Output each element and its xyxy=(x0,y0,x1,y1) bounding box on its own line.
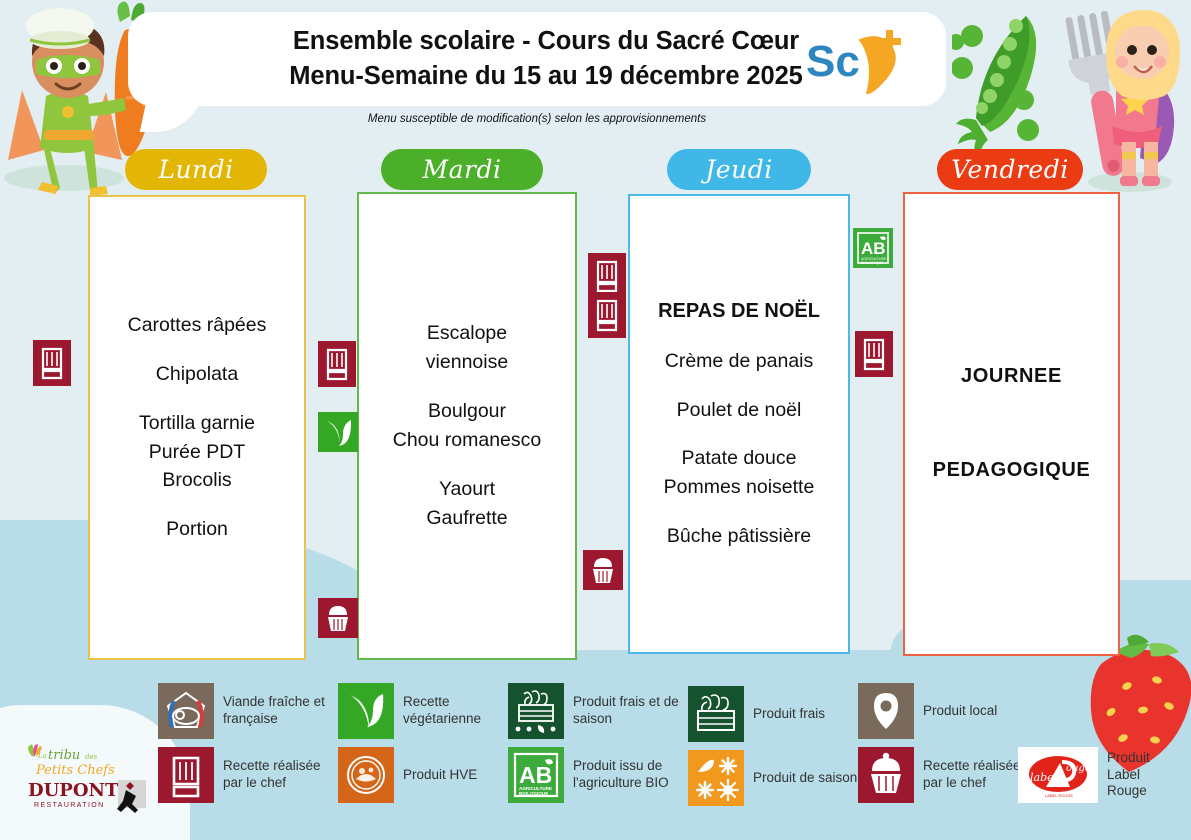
label-rouge-icon: label ouge LABEL ROUGE xyxy=(1018,747,1098,803)
menu-line: Boulgour xyxy=(359,397,575,426)
legend-item: AB AGRICULTURE BIOLOGIQUE Produit issu d… xyxy=(508,747,688,803)
menu-line: Brocolis xyxy=(90,466,304,495)
menu-line: Bûche pâtissière xyxy=(630,522,848,551)
legend-label: Produit HVE xyxy=(403,767,477,784)
day-card-lundi: Carottes râpées Chipolata Tortilla garni… xyxy=(88,195,306,660)
dupont-restauration-logo: DUPONT RESTAURATION xyxy=(26,776,150,814)
menu-group: Yaourt Gaufrette xyxy=(359,475,575,533)
menu-line: Portion xyxy=(90,515,304,544)
legend-label: Recette réalisée par le chef xyxy=(223,758,338,792)
legend-column-5: Produit local Recette réalisée par le ch… xyxy=(858,683,1028,811)
organic-ab-icon: AB AGRICULTURE BIOLOGIQUE xyxy=(853,228,893,268)
cupcake-chef-icon xyxy=(583,550,623,590)
page-title: Ensemble scolaire - Cours du Sacré Cœur xyxy=(196,24,896,59)
menu-group: Portion xyxy=(90,515,304,544)
day-badge-label: Vendredi xyxy=(951,155,1068,184)
chef-recipe-icon xyxy=(158,747,214,803)
day-card-vendredi: JOURNEE PEDAGOGIQUE xyxy=(903,192,1120,656)
svg-text:BIOLOGIQUE: BIOLOGIQUE xyxy=(519,791,548,796)
svg-text:des: des xyxy=(85,753,98,761)
vegetarian-icon xyxy=(318,412,358,452)
svg-text:Sc: Sc xyxy=(806,37,860,86)
menu-group: Crème de panais xyxy=(630,347,848,376)
menu-line: Patate douce xyxy=(630,444,848,473)
header-text-block: Ensemble scolaire - Cours du Sacré Cœur … xyxy=(196,24,896,93)
legend-item: Recette réalisée par le chef xyxy=(858,747,1028,803)
vegetarian-recipe-icon xyxy=(338,683,394,739)
menu-group: PEDAGOGIQUE xyxy=(905,456,1118,486)
header-banner: Ensemble scolaire - Cours du Sacré Cœur … xyxy=(128,12,946,106)
menu-poster: Ensemble scolaire - Cours du Sacré Cœur … xyxy=(0,0,1191,840)
menu-line: Carottes râpées xyxy=(90,311,304,340)
chef-recipe-icon xyxy=(33,340,71,386)
chef-recipe-icon xyxy=(855,331,893,377)
day-badge-label: Jeudi xyxy=(705,155,772,184)
legend-item: Produit HVE xyxy=(338,747,508,803)
menu-line: Pommes noisette xyxy=(630,473,848,502)
menu-group: Escalope viennoise xyxy=(359,319,575,377)
svg-text:BIOLOGIQUE: BIOLOGIQUE xyxy=(861,261,884,265)
menu-group: Tortilla garnie Purée PDT Brocolis xyxy=(90,409,304,496)
menu-line: Purée PDT xyxy=(90,438,304,467)
menu-mardi: Escalope viennoise Boulgour Chou romanes… xyxy=(359,319,575,532)
local-product-icon xyxy=(858,683,914,739)
menu-group: REPAS DE NOËL xyxy=(630,297,848,327)
legend-item: Produit local xyxy=(858,683,1028,739)
menu-line: REPAS DE NOËL xyxy=(630,297,848,327)
day-card-mardi: Escalope viennoise Boulgour Chou romanes… xyxy=(357,192,577,660)
chef-recipe-icon xyxy=(588,292,626,338)
svg-text:AB: AB xyxy=(519,762,552,788)
fresh-seasonal-product-icon xyxy=(508,683,564,739)
sc-sacre-coeur-logo-icon: Sc xyxy=(802,28,912,94)
legend-column-4: Produit frais xyxy=(688,683,858,814)
legend-label: Produit frais xyxy=(753,706,825,723)
menu-line: Gaufrette xyxy=(359,504,575,533)
header-note: Menu susceptible de modification(s) selo… xyxy=(128,113,946,125)
menu-line: Yaourt xyxy=(359,475,575,504)
legend-label: Recette végétarienne xyxy=(403,694,508,728)
cupcake-chef-icon xyxy=(858,747,914,803)
legend-label: Recette réalisée par le chef xyxy=(923,758,1028,792)
menu-line: Poulet de noël xyxy=(630,396,848,425)
organic-ab-icon: AB AGRICULTURE BIOLOGIQUE xyxy=(508,747,564,803)
svg-text:tribu: tribu xyxy=(48,748,80,763)
day-card-jeudi: REPAS DE NOËL Crème de panais Poulet de … xyxy=(628,194,850,654)
day-badge-label: Mardi xyxy=(423,155,502,184)
legend-item: Recette réalisée par le chef xyxy=(158,747,338,803)
legend-label: Produit Label Rouge xyxy=(1107,750,1178,801)
day-badge-label: Lundi xyxy=(158,155,233,184)
menu-line: Crème de panais xyxy=(630,347,848,376)
menu-line: JOURNEE xyxy=(905,362,1118,392)
seasonal-product-icon xyxy=(688,750,744,806)
menu-line: Tortilla garnie xyxy=(90,409,304,438)
menu-group: Poulet de noël xyxy=(630,396,848,425)
legend-label: Produit de saison xyxy=(753,770,857,787)
legend-label: Viande fraîche et française xyxy=(223,694,338,728)
cupcake-chef-icon xyxy=(318,598,358,638)
page-subtitle: Menu-Semaine du 15 au 19 décembre 2025 xyxy=(196,59,896,94)
legend-item: Recette végétarienne xyxy=(338,683,508,739)
chef-recipe-icon xyxy=(318,341,356,387)
menu-line: Chipolata xyxy=(90,360,304,389)
day-badge-lundi: Lundi xyxy=(125,149,267,190)
menu-lundi: Carottes râpées Chipolata Tortilla garni… xyxy=(90,311,304,544)
svg-text:AB: AB xyxy=(861,239,886,258)
legend-column-3: Produit frais et de saison AB AGRICULTUR… xyxy=(508,683,688,811)
menu-group: Bûche pâtissière xyxy=(630,522,848,551)
day-badge-mardi: Mardi xyxy=(381,149,543,190)
menu-vendredi: JOURNEE PEDAGOGIQUE xyxy=(905,362,1118,485)
fresh-french-meat-icon xyxy=(158,683,214,739)
svg-text:RESTAURATION: RESTAURATION xyxy=(34,802,105,809)
svg-text:La: La xyxy=(37,752,47,760)
hve-product-icon xyxy=(338,747,394,803)
svg-text:LABEL ROUGE: LABEL ROUGE xyxy=(1045,793,1073,798)
menu-group: Carottes râpées xyxy=(90,311,304,340)
menu-group: Patate douce Pommes noisette xyxy=(630,444,848,502)
legend-item: Produit de saison xyxy=(688,750,858,806)
legend-item: Viande fraîche et française xyxy=(158,683,338,739)
legend-column-6: label ouge LABEL ROUGE Produit Label Rou… xyxy=(1018,747,1178,811)
fresh-product-icon xyxy=(688,686,744,742)
legend-label: Produit local xyxy=(923,703,997,720)
menu-line: PEDAGOGIQUE xyxy=(905,456,1118,486)
legend: Viande fraîche et française Recette réal… xyxy=(158,683,1168,815)
menu-group: JOURNEE xyxy=(905,362,1118,392)
menu-group: Boulgour Chou romanesco xyxy=(359,397,575,455)
legend-label: Produit issu de l'agriculture BIO xyxy=(573,758,688,792)
menu-line: Escalope xyxy=(359,319,575,348)
legend-label: Produit frais et de saison xyxy=(573,694,688,728)
legend-item: Produit frais et de saison xyxy=(508,683,688,739)
day-badge-vendredi: Vendredi xyxy=(937,149,1083,190)
la-tribu-des-petits-chefs-logo: La tribu des Petits Chefs xyxy=(22,742,150,778)
menu-line: Chou romanesco xyxy=(359,426,575,455)
svg-text:ouge: ouge xyxy=(1066,763,1091,774)
legend-item: Produit frais xyxy=(688,686,858,742)
svg-text:DUPONT: DUPONT xyxy=(28,780,119,801)
legend-item: label ouge LABEL ROUGE Produit Label Rou… xyxy=(1018,747,1178,803)
menu-group: Chipolata xyxy=(90,360,304,389)
day-badge-jeudi: Jeudi xyxy=(667,149,811,190)
legend-column-2: Recette végétarienne Produit HVE xyxy=(338,683,508,811)
menu-line: viennoise xyxy=(359,348,575,377)
menu-jeudi: REPAS DE NOËL Crème de panais Poulet de … xyxy=(630,297,848,551)
svg-text:label: label xyxy=(1030,771,1058,784)
legend-column-1: Viande fraîche et française Recette réal… xyxy=(158,683,338,811)
